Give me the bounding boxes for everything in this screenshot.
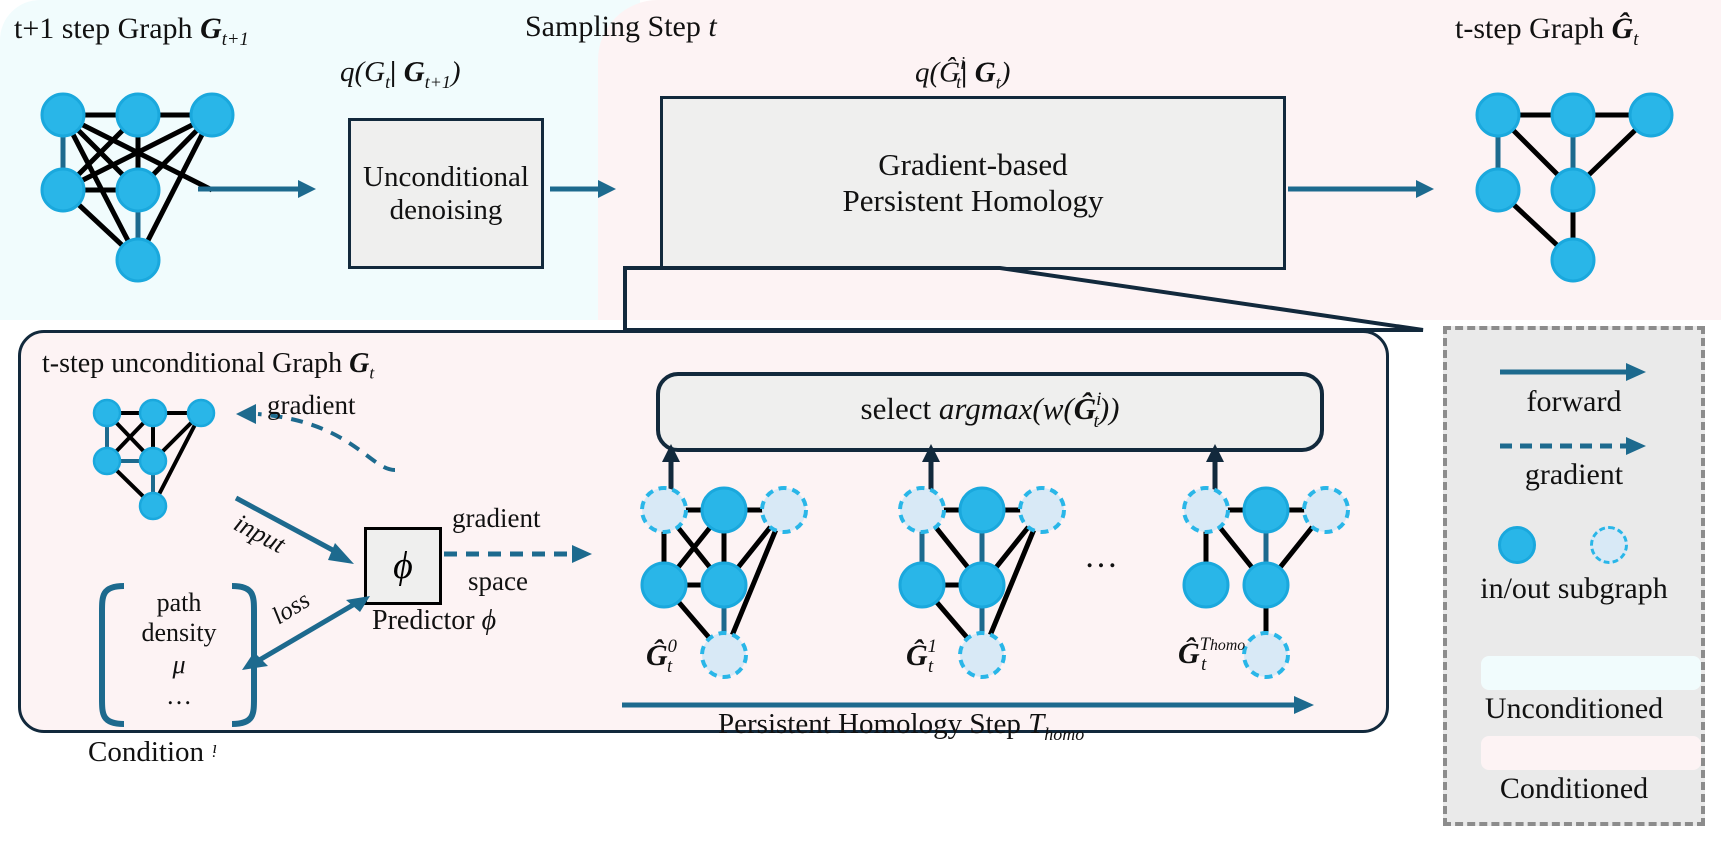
ghat-sup-sub: homo: [1210, 637, 1245, 654]
legend-forward-arrow: [1500, 362, 1650, 382]
subgraph-node-out: [762, 488, 806, 532]
subgraph-node-out: [1184, 488, 1228, 532]
q-text: q(Ĝ: [915, 57, 960, 89]
legend-gradient-arrow: [1500, 436, 1650, 456]
subgraph-0: [594, 480, 809, 680]
subgraph-node-in: [1244, 563, 1288, 607]
ghat-sub: t: [667, 656, 672, 677]
graph-node: [117, 94, 159, 136]
q-text: q(G: [340, 56, 385, 88]
graph-node: [94, 448, 120, 474]
q-close: ): [451, 56, 461, 88]
subgraph-node-out: [642, 488, 686, 532]
subgraph-node-out: [960, 633, 1004, 677]
graph-node: [1477, 94, 1519, 136]
top-right-graph-label: t-step Graph Ĝt: [1455, 14, 1638, 50]
legend-conditioned-swatch: [1481, 736, 1701, 770]
label-text: Sampling Step: [525, 10, 708, 43]
q-unconditional-label: q(Gt| Gt+1): [340, 58, 460, 91]
legend-gradient-label: gradient: [1443, 458, 1705, 492]
legend-node-label: in/out subgraph: [1443, 572, 1705, 606]
box-line-2: Persistent Homology: [843, 183, 1104, 219]
q-sup: i: [960, 53, 965, 73]
box-line-1: Unconditional: [363, 161, 529, 194]
panel-graph-label: t-step unconditional Graph Gt: [42, 350, 374, 382]
graph-node: [140, 400, 166, 426]
subgraph-1: [852, 480, 1067, 680]
sampling-step-label: Sampling Step t: [525, 12, 717, 42]
graph-g-hat-t: [1455, 75, 1690, 290]
label-text: t+1 step Graph: [14, 12, 200, 45]
ghat-sup: i: [1096, 389, 1101, 410]
forward-arrow-denoising-to-homology: [550, 176, 625, 202]
graph-symbol: G: [200, 12, 222, 45]
subgraph-ellipsis: …: [1084, 540, 1121, 574]
subgraph-node-in: [960, 563, 1004, 607]
graph-subscript: t+1: [222, 29, 249, 50]
graph-node: [1552, 239, 1594, 281]
label-text: Predictor: [372, 605, 482, 636]
label-text: Persistent Homology Step: [718, 708, 1028, 740]
subgraph-node-out: [1244, 633, 1288, 677]
panel-graph-g-t: [80, 388, 240, 528]
subgraph-node-out: [1020, 488, 1064, 532]
t-symbol: T: [1028, 708, 1044, 740]
legend-node-swatches: [1498, 526, 1628, 564]
forward-arrow-graph-to-denoising: [198, 176, 320, 202]
subgraph-node-in: [642, 563, 686, 607]
subgraph-node-out: [702, 633, 746, 677]
select-argmax-box[interactable]: select argmax(w(Ĝit)): [656, 372, 1324, 452]
subgraph-node-in: [900, 563, 944, 607]
legend-conditioned-label: Conditioned: [1443, 772, 1705, 806]
ghat-sup: T: [1200, 634, 1210, 655]
select-argmax-formula: select argmax(w(Ĝit)): [861, 391, 1120, 432]
subgraph-node-in: [1184, 563, 1228, 607]
predictor-caption: Predictor ϕ: [372, 607, 496, 635]
step-symbol: t: [708, 10, 716, 43]
graph-node: [117, 169, 159, 211]
argmax-fn: argmax(w(: [939, 391, 1074, 426]
ghat-sub: t: [928, 656, 933, 677]
graph-symbol: Ĝ: [1612, 12, 1634, 45]
graph-node: [191, 94, 233, 136]
forward-arrow-homology-to-output: [1288, 176, 1448, 202]
subgraph-node-out: [900, 488, 944, 532]
formula-close: )): [1099, 391, 1120, 426]
condition-symbol: ᵎ: [211, 736, 216, 768]
label-text: t-step Graph: [1455, 12, 1612, 45]
legend-unconditioned-swatch: [1481, 656, 1701, 690]
subgraph-1-label: Ĝ1t: [906, 640, 933, 677]
phi-symbol: ϕ: [393, 544, 413, 588]
gradient-space-label-top: gradient: [452, 505, 540, 532]
predictor-phi-box[interactable]: ϕ: [364, 527, 442, 605]
condition-item: path: [104, 588, 254, 618]
subgraph-node-in: [702, 563, 746, 607]
unconditional-denoising-box[interactable]: Unconditional denoising: [348, 118, 544, 269]
graph-node: [1477, 169, 1519, 211]
ghat-symbol: Ĝ: [646, 639, 668, 672]
subgraph-0-label: Ĝ0t: [646, 640, 672, 677]
top-left-graph-label: t+1 step Graph Gt+1: [14, 14, 249, 50]
q-sub2: t+1: [425, 72, 451, 92]
graph-node: [94, 400, 120, 426]
graph-node: [188, 400, 214, 426]
gradient-space-label-bottom: space: [468, 568, 528, 595]
label-text: Condition: [88, 736, 211, 768]
q-mid: | G: [390, 56, 425, 88]
phi-symbol: ϕ: [482, 605, 497, 636]
gradient-space-arrow: [444, 542, 600, 566]
graph-node: [1552, 169, 1594, 211]
panel-connector: [600, 260, 1400, 340]
legend-node-out-icon: [1590, 526, 1628, 564]
legend-forward-label: forward: [1443, 385, 1705, 419]
q-close: ): [1001, 57, 1011, 89]
box-line-2: denoising: [363, 194, 529, 227]
condition-items-list: path density μ …: [104, 588, 254, 710]
subgraph-last-label: ĜThomot: [1178, 638, 1206, 675]
graph-node: [117, 239, 159, 281]
graph-subscript: t: [369, 364, 374, 383]
condition-item: …: [104, 682, 254, 711]
ghat-symbol: Ĝ: [1178, 637, 1200, 670]
diagram-canvas: t+1 step Graph Gt+1 Sampling Step t t-st…: [0, 0, 1721, 848]
subgraph-node-in: [702, 488, 746, 532]
ghat-sup: 0: [668, 636, 677, 657]
q-conditional-label: q(Ĝit| Gt): [915, 56, 1010, 91]
condition-caption: Condition ᵎ: [88, 738, 216, 767]
ghat-sup: 1: [928, 636, 937, 657]
graph-node: [140, 448, 166, 474]
select-word: select: [861, 391, 939, 426]
box-line-1: Gradient-based: [843, 147, 1104, 183]
graph-node: [140, 493, 166, 519]
legend-unconditioned-label: Unconditioned: [1443, 692, 1705, 726]
condition-item: μ: [104, 648, 254, 682]
subgraph-node-in: [960, 488, 1004, 532]
subgraph-node-out: [1304, 488, 1348, 532]
graph-symbol: G: [349, 348, 369, 379]
graph-subscript: t: [1633, 29, 1638, 50]
ghat-sub: t: [1201, 654, 1206, 675]
q-mid: | G: [961, 57, 996, 89]
persistent-homology-step-label: Persistent Homology Step Thomo: [718, 710, 1084, 743]
condition-item: density: [104, 618, 254, 648]
graph-node: [1552, 94, 1594, 136]
subgraph-node-in: [1244, 488, 1288, 532]
gradient-based-persistent-homology-box[interactable]: Gradient-based Persistent Homology: [660, 96, 1286, 270]
legend-node-in-icon: [1498, 526, 1536, 564]
graph-node: [1630, 94, 1672, 136]
t-subscript: homo: [1044, 724, 1084, 744]
graph-node: [42, 169, 84, 211]
ghat-symbol: Ĝ: [906, 639, 928, 672]
graph-node: [42, 94, 84, 136]
label-text: t-step unconditional Graph: [42, 348, 349, 379]
gradient-feedback-label: gradient: [267, 392, 355, 419]
